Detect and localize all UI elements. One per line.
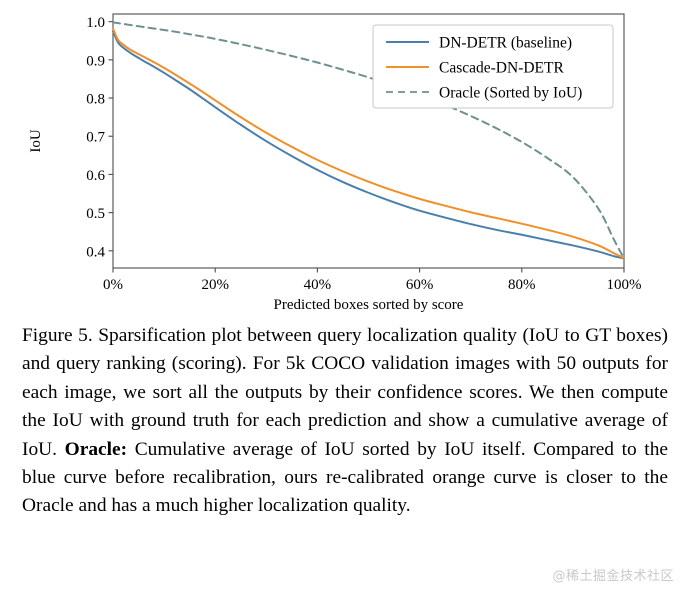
figure-plot-area: 0%20%40%60%80%100%0.40.50.60.70.80.91.0P… (0, 0, 686, 318)
watermark-text: @稀土掘金技术社区 (552, 565, 674, 584)
x-tick-label: 60% (406, 277, 434, 293)
sparsification-chart: 0%20%40%60%80%100%0.40.50.60.70.80.91.0P… (0, 0, 686, 318)
y-axis-title: IoU (28, 129, 44, 152)
y-tick-label: 0.6 (86, 168, 105, 184)
caption-oracle-bold: Oracle: (65, 439, 127, 460)
x-tick-label: 100% (607, 277, 642, 293)
y-tick-label: 0.8 (86, 92, 105, 108)
caption-figure-number: Figure 5. (22, 325, 93, 346)
legend-label-3: Oracle (Sorted by IoU) (439, 85, 582, 102)
legend-label-2: Cascade-DN-DETR (439, 60, 564, 77)
figure-caption: Figure 5. Sparsification plot between qu… (22, 322, 668, 521)
x-tick-label: 40% (304, 277, 332, 293)
x-tick-label: 80% (508, 277, 536, 293)
x-axis-title: Predicted boxes sorted by score (274, 297, 464, 313)
x-tick-label: 0% (103, 277, 123, 293)
y-tick-label: 1.0 (86, 15, 105, 31)
x-tick-label: 20% (201, 277, 229, 293)
y-tick-label: 0.9 (86, 53, 105, 69)
y-tick-label: 0.7 (86, 130, 105, 146)
legend-label-1: DN-DETR (baseline) (439, 35, 572, 52)
y-tick-label: 0.5 (86, 206, 105, 222)
y-tick-label: 0.4 (86, 244, 105, 260)
